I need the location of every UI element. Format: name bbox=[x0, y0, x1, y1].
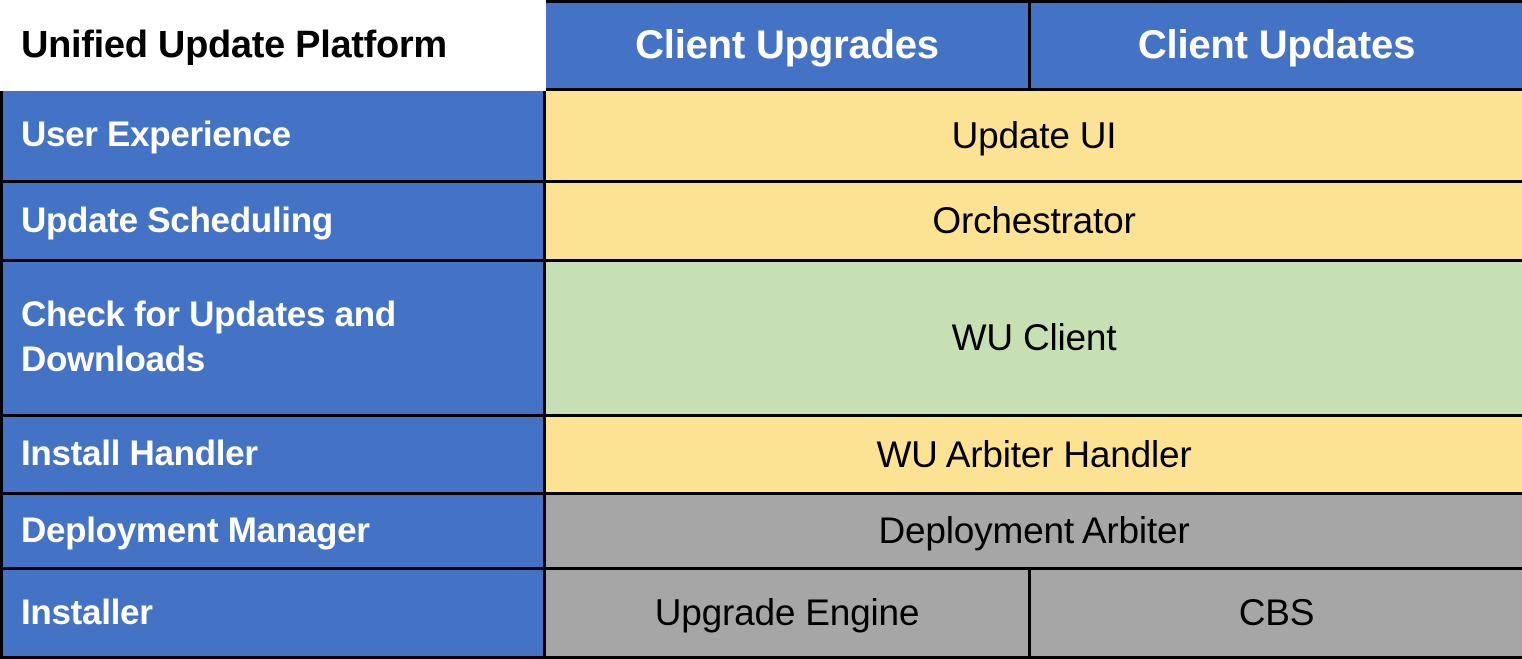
table-row: Update Scheduling Orchestrator bbox=[2, 182, 1522, 261]
cell-deployment-arbiter: Deployment Arbiter bbox=[545, 494, 1522, 569]
cell-update-ui: Update UI bbox=[545, 90, 1522, 182]
table-row: Check for Updates and Downloads WU Clien… bbox=[2, 261, 1522, 416]
table-row: Installer Upgrade Engine CBS bbox=[2, 569, 1522, 658]
row-label-line-2: Downloads bbox=[21, 338, 535, 383]
unified-update-platform-table: Unified Update Platform Client Upgrades … bbox=[0, 0, 1522, 659]
table-header-row: Unified Update Platform Client Upgrades … bbox=[2, 2, 1522, 90]
table-row: Install Handler WU Arbiter Handler bbox=[2, 416, 1522, 494]
row-label-check-for-updates-and-downloads: Check for Updates and Downloads bbox=[2, 261, 545, 416]
column-header-client-updates: Client Updates bbox=[1030, 2, 1522, 90]
cell-wu-client: WU Client bbox=[545, 261, 1522, 416]
row-label-install-handler: Install Handler bbox=[2, 416, 545, 494]
cell-upgrade-engine: Upgrade Engine bbox=[545, 569, 1030, 658]
table-row: User Experience Update UI bbox=[2, 90, 1522, 182]
row-label-user-experience: User Experience bbox=[2, 90, 545, 182]
cell-orchestrator: Orchestrator bbox=[545, 182, 1522, 261]
row-label-installer: Installer bbox=[2, 569, 545, 658]
page-title: Unified Update Platform bbox=[2, 2, 545, 90]
row-label-update-scheduling: Update Scheduling bbox=[2, 182, 545, 261]
column-header-client-upgrades: Client Upgrades bbox=[545, 2, 1030, 90]
row-label-deployment-manager: Deployment Manager bbox=[2, 494, 545, 569]
table-row: Deployment Manager Deployment Arbiter bbox=[2, 494, 1522, 569]
row-label-line-1: Check for Updates and bbox=[21, 293, 535, 338]
cell-cbs: CBS bbox=[1030, 569, 1522, 658]
cell-wu-arbiter-handler: WU Arbiter Handler bbox=[545, 416, 1522, 494]
